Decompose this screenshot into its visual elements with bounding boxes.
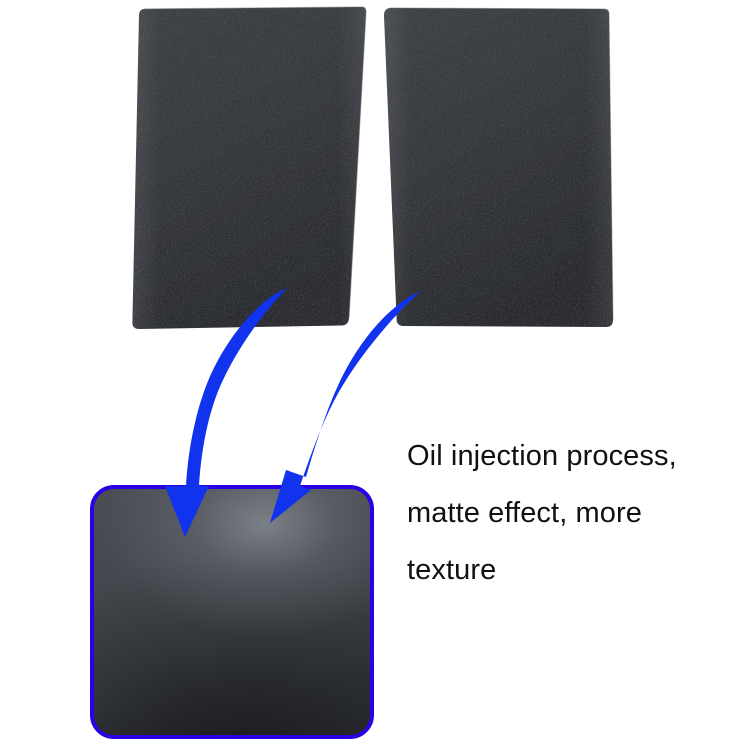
product-detail-image: Oil injection process, matte effect, mor… xyxy=(0,0,750,750)
right-panel xyxy=(384,8,613,327)
matte-surface-closeup xyxy=(90,485,374,739)
caption-text: Oil injection process, matte effect, mor… xyxy=(407,428,737,599)
left-panel xyxy=(132,7,366,329)
matte-grain-texture xyxy=(90,485,374,739)
